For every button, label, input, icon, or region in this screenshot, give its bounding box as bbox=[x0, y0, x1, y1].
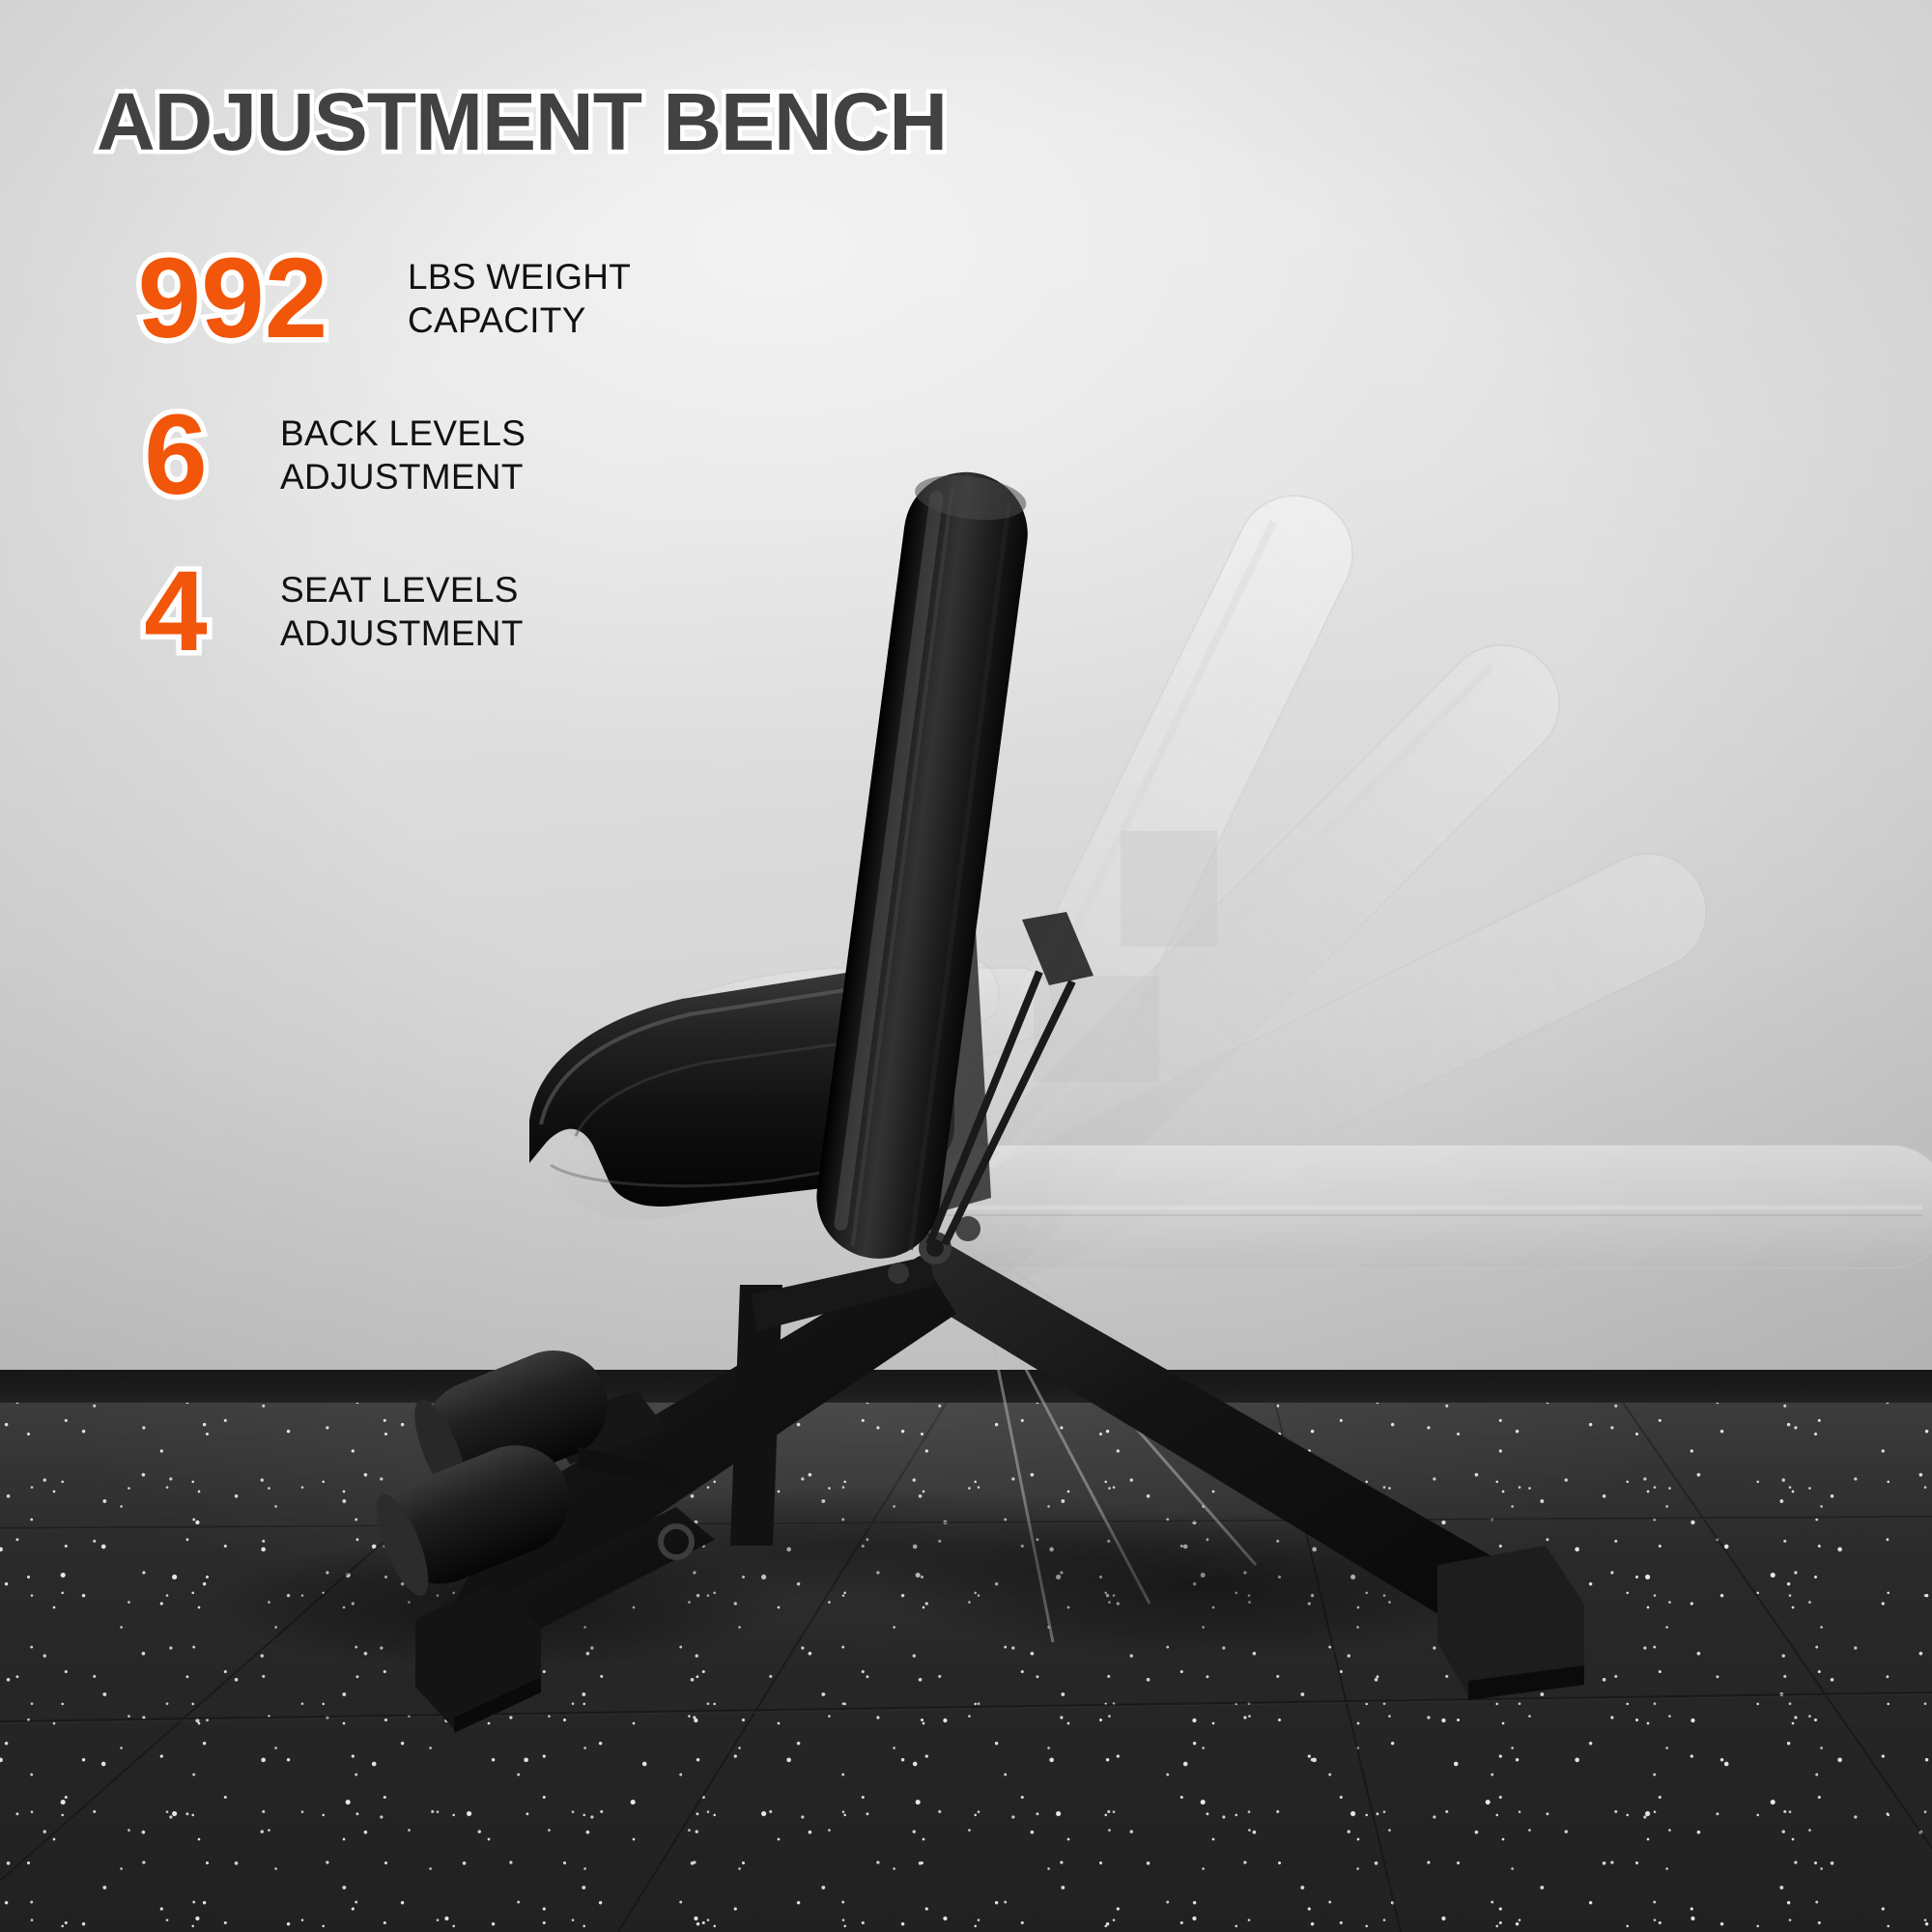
spec-item-back-levels: 6 BACK LEVELS ADJUSTMENT bbox=[93, 398, 827, 512]
spec-label-weight-capacity: LBS WEIGHT CAPACITY bbox=[408, 255, 631, 342]
spec-item-seat-levels: 4 SEAT LEVELS ADJUSTMENT bbox=[93, 554, 827, 668]
spec-label-seat-levels: SEAT LEVELS ADJUSTMENT bbox=[280, 568, 524, 655]
page-title: ADJUSTMENT BENCH bbox=[97, 75, 947, 169]
product-marketing-image: ADJUSTMENT BENCH 992 LBS WEIGHT CAPACITY… bbox=[0, 0, 1932, 1932]
pivot-bolt-tertiary bbox=[888, 1263, 909, 1284]
spec-label-line2: ADJUSTMENT bbox=[280, 455, 526, 498]
spec-label-line1: LBS WEIGHT bbox=[408, 255, 631, 298]
spec-item-weight-capacity: 992 LBS WEIGHT CAPACITY bbox=[93, 241, 827, 355]
spec-label-line1: BACK LEVELS bbox=[280, 412, 526, 455]
spec-label-line2: CAPACITY bbox=[408, 298, 631, 342]
spec-number-seat-levels: 4 bbox=[122, 554, 230, 668]
spec-label-line2: ADJUSTMENT bbox=[280, 611, 524, 655]
spec-number-weight-capacity: 992 bbox=[93, 241, 373, 355]
spec-number-back-levels: 6 bbox=[122, 398, 230, 512]
spec-list: 992 LBS WEIGHT CAPACITY 6 BACK LEVELS AD… bbox=[93, 241, 827, 668]
spec-label-back-levels: BACK LEVELS ADJUSTMENT bbox=[280, 412, 526, 498]
ghost-flat-bench-pad bbox=[927, 1145, 1932, 1268]
spec-label-line1: SEAT LEVELS bbox=[280, 568, 524, 611]
